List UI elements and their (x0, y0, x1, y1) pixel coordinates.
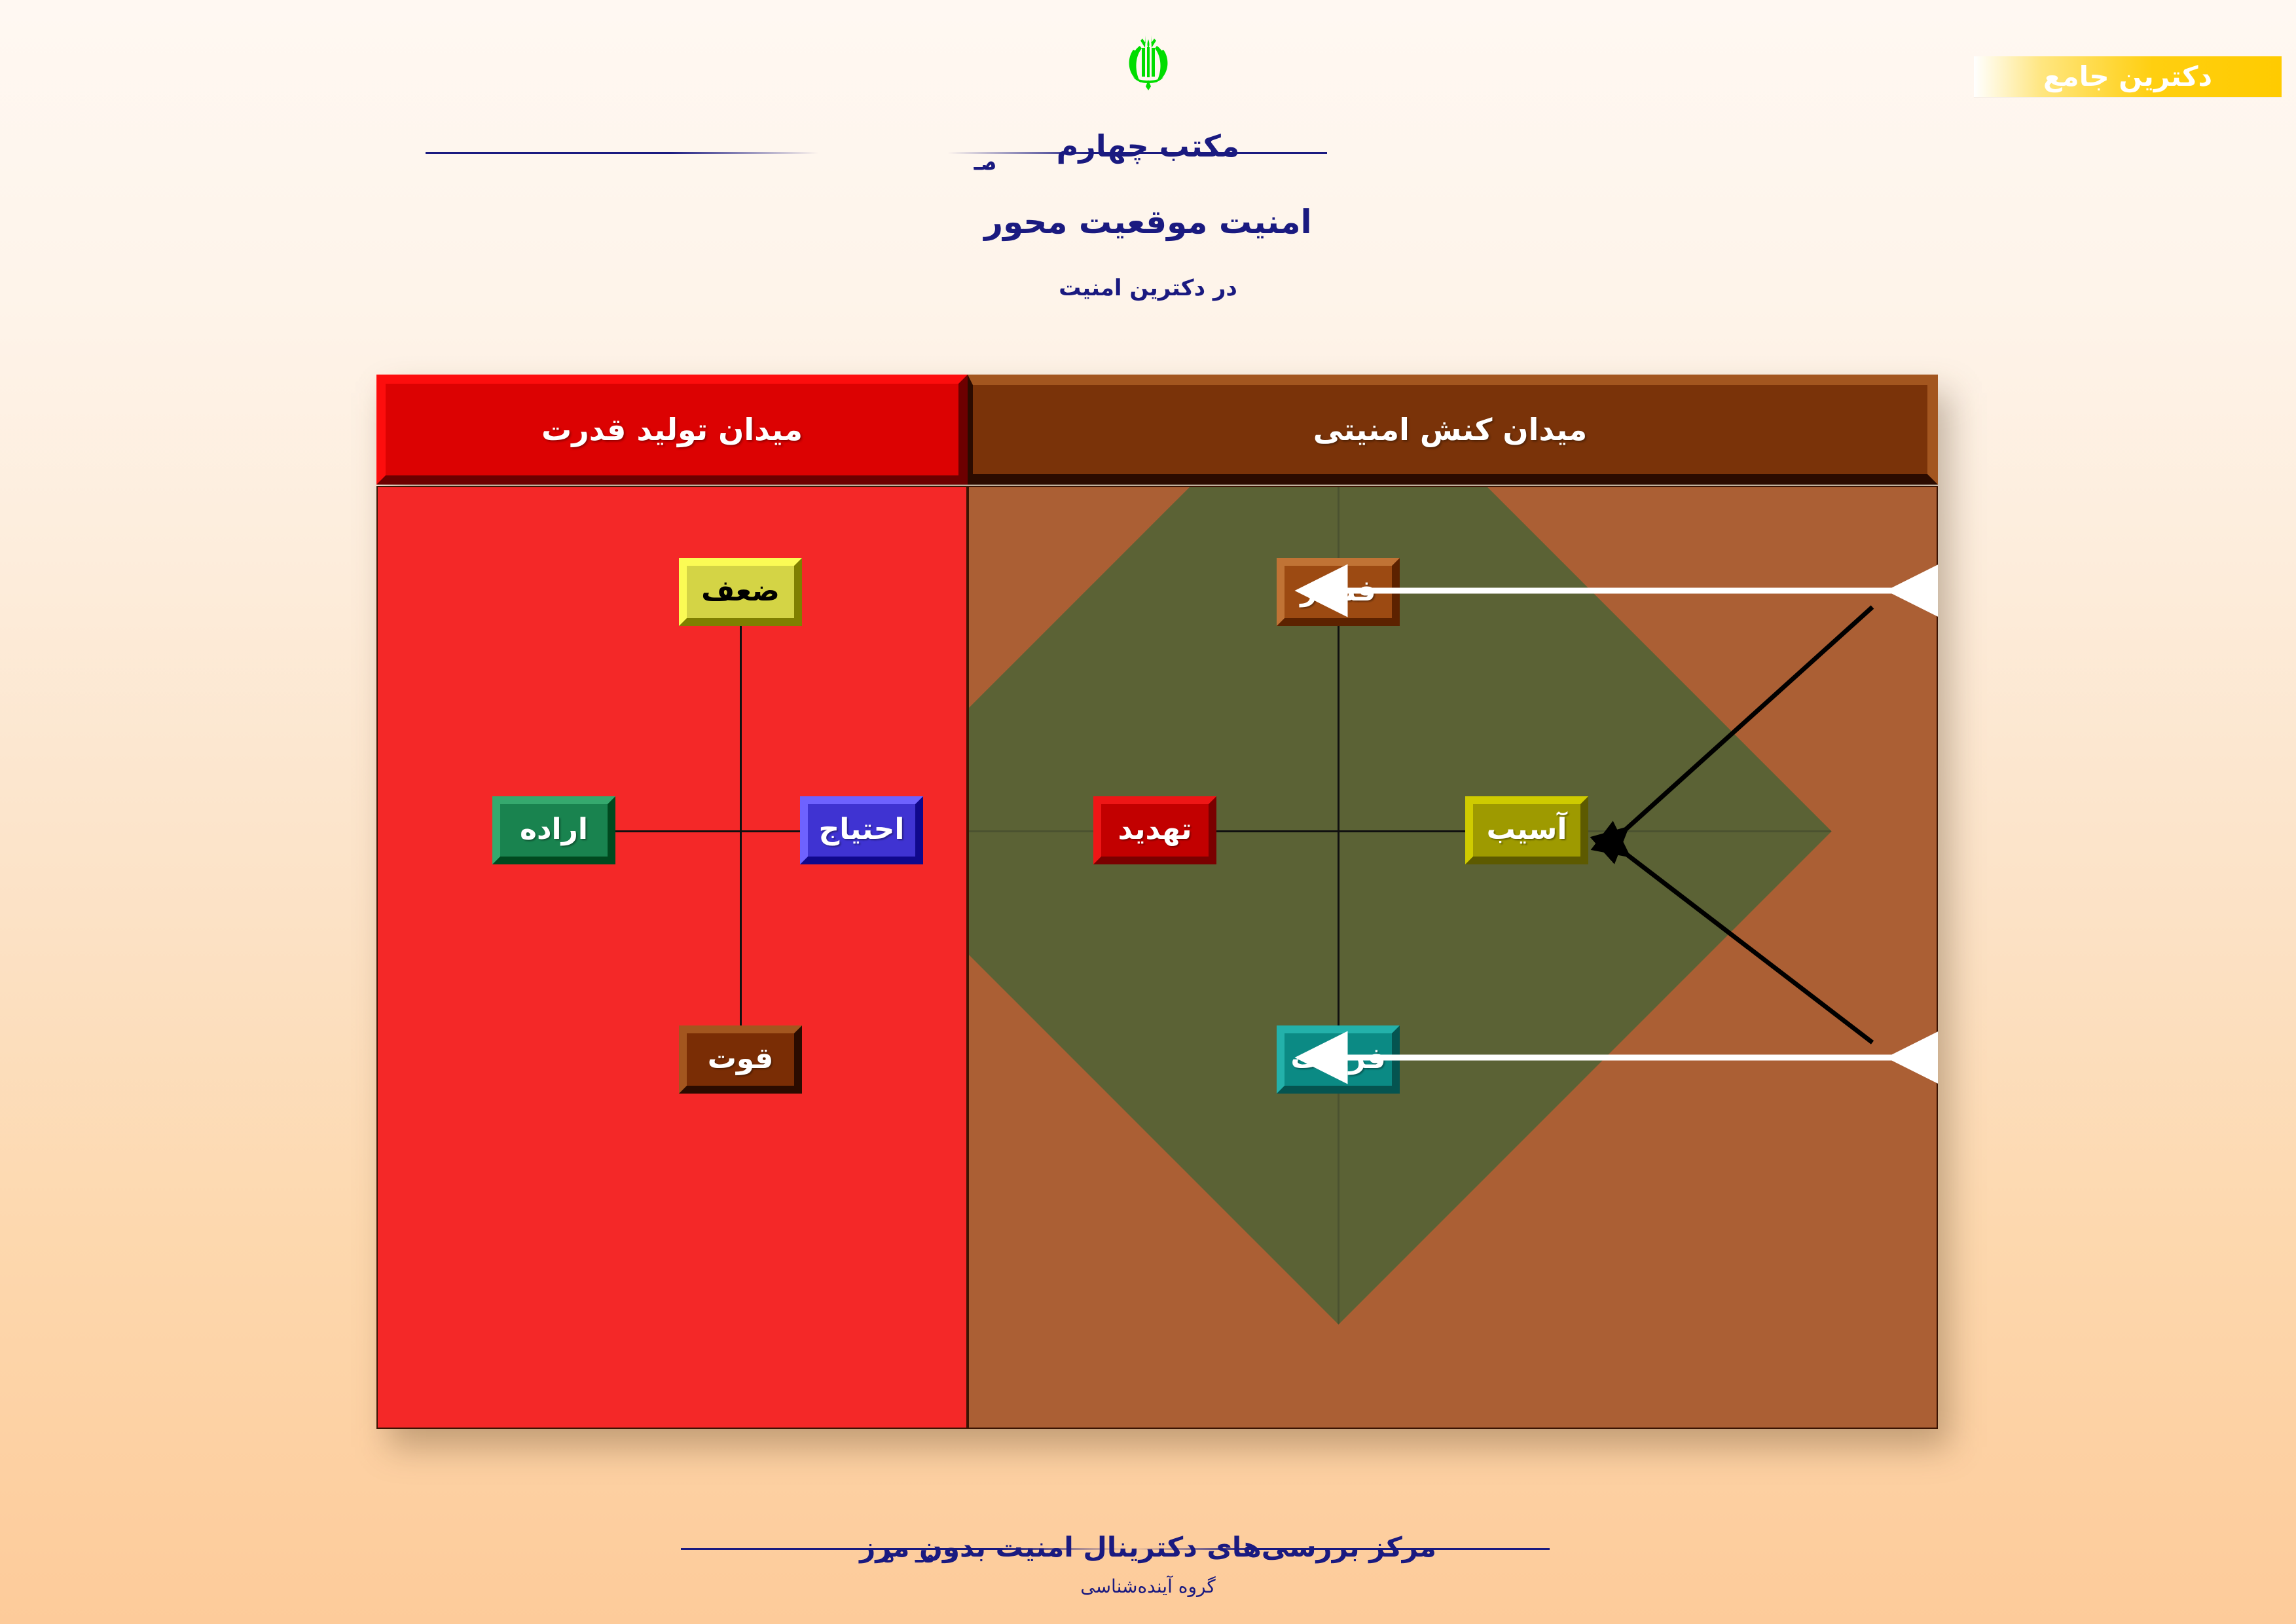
node-label: احتیاج (819, 813, 905, 846)
connector-center-opportunity (1338, 831, 1339, 1027)
footer-organization: مرکز بررسی‌های دکترینال امنیت بدون مرز (0, 1531, 2296, 1563)
node-label: ضعف (701, 574, 780, 608)
footer-department: گروه آینده‌شناسی (0, 1576, 2296, 1597)
panel-security-action-field: فشار تهدید آسیب فرصت (968, 486, 1938, 1429)
node-label: آسیب (1487, 813, 1567, 846)
panel-header-label: میدان کنش امنیتی (1313, 412, 1588, 447)
panel-header-label: میدان تولید قدرت (541, 412, 803, 447)
node-need[interactable]: احتیاج (800, 796, 923, 864)
node-pressure[interactable]: فشار (1277, 558, 1400, 626)
node-label: اراده (520, 813, 588, 846)
panel-header-power-production-field: میدان تولید قدرت (376, 375, 968, 485)
node-weakness[interactable]: ضعف (679, 558, 802, 626)
node-label: فرصت (1290, 1042, 1385, 1075)
chapter-title: مکتب چهارم (0, 128, 2296, 164)
node-will[interactable]: اراده (492, 796, 615, 864)
doctrine-badge: دکترین جامع (1974, 56, 2282, 97)
panel-header-security-action-field: میدان کنش امنیتی (968, 375, 1938, 485)
node-strength[interactable]: قوت (679, 1025, 802, 1094)
page-subtitle: در دکترین امنیت (0, 275, 2296, 301)
connector-weakness-strength (740, 558, 742, 1029)
iran-emblem-icon (0, 30, 2296, 90)
node-label: تهدید (1118, 813, 1192, 846)
node-opportunity[interactable]: فرصت (1277, 1025, 1400, 1094)
connector-threat-to-center (1214, 830, 1339, 832)
node-label: قوت (708, 1042, 774, 1075)
node-label: فشار (1300, 574, 1376, 608)
connector-center-damage (1338, 830, 1468, 832)
connector-pressure-center (1338, 626, 1339, 832)
node-damage[interactable]: آسیب (1465, 796, 1588, 864)
page-title: امنیت موقعیت محور (0, 203, 2296, 241)
panel-power-production-field: ضعف اراده احتیاج قوت (376, 486, 968, 1429)
doctrine-diagram: میدان کنش امنیتی میدان تولید قدرت فشار ت… (376, 375, 1938, 1429)
node-threat[interactable]: تهدید (1093, 796, 1216, 864)
